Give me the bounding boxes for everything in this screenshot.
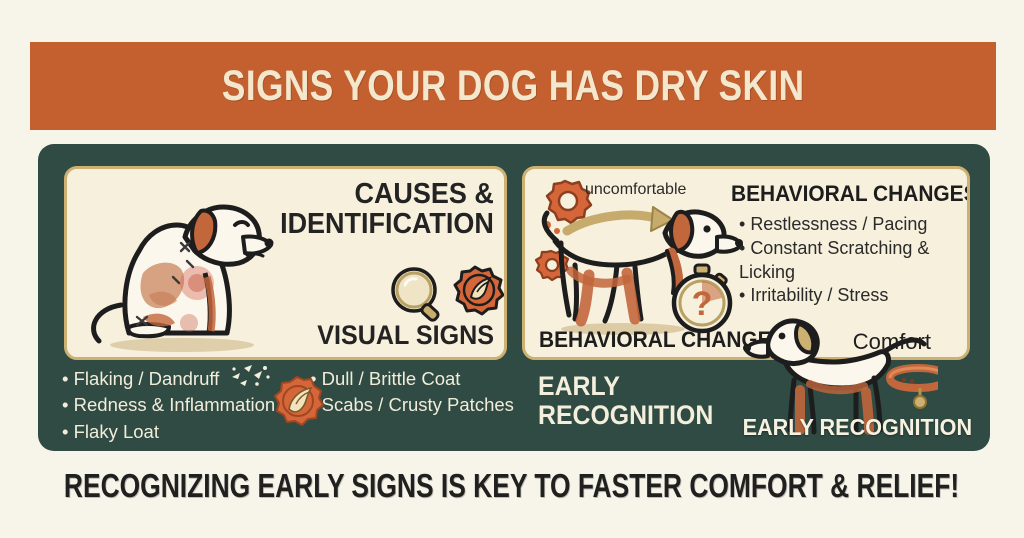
early-recognition-overlay-label: EARLY RECOGNITION xyxy=(743,414,972,441)
list-item: • Scabs / Crusty Patches xyxy=(310,392,514,418)
footer-banner: RECOGNIZING EARLY SIGNS IS KEY TO FASTER… xyxy=(0,460,1024,512)
right-card-heading: BEHAVIORAL CHANGES xyxy=(731,181,970,207)
list-item: • Flaky Loat xyxy=(62,419,275,445)
content-panel: CAUSES & IDENTIFICATION VISUAL S xyxy=(38,144,990,451)
page-title: SIGNS YOUR DOG HAS DRY SKIN xyxy=(222,62,805,111)
causes-identification-card: CAUSES & IDENTIFICATION VISUAL S xyxy=(64,166,507,360)
list-item: • Constant Scratching & Licking xyxy=(739,237,969,285)
footer-tagline: RECOGNIZING EARLY SIGNS IS KEY TO FASTER… xyxy=(64,467,959,505)
walking-dog-illustration: ? xyxy=(531,179,743,347)
list-item: • Dull / Brittle Coat xyxy=(310,366,514,392)
uncomfortable-annotation: uncomfortable xyxy=(585,181,686,199)
behavioral-bullet-list: • Restlessness / Pacing • Constant Scrat… xyxy=(739,213,969,308)
list-item: • Redness & Inflammation xyxy=(62,392,275,418)
flakes-icon xyxy=(228,363,272,389)
early-recognition-line2: RECOGNITION xyxy=(538,401,713,430)
magnifier-icon xyxy=(393,269,440,322)
gear-flame-icon xyxy=(270,376,324,430)
visual-signs-label: VISUAL SIGNS xyxy=(317,320,494,351)
left-card-heading-line1: CAUSES & xyxy=(280,179,494,209)
left-card-icon-group xyxy=(383,263,505,325)
early-recognition-line1: EARLY xyxy=(538,372,713,401)
title-banner: SIGNS YOUR DOG HAS DRY SKIN xyxy=(30,42,996,130)
early-recognition-label: EARLY RECOGNITION xyxy=(538,372,713,429)
list-item: • Irritability / Stress xyxy=(739,284,969,308)
dog-collar-icon xyxy=(890,368,938,408)
list-item: • Restlessness / Pacing xyxy=(739,213,969,237)
left-card-heading: CAUSES & IDENTIFICATION xyxy=(280,179,494,239)
svg-text:?: ? xyxy=(692,285,713,323)
sitting-dog-illustration xyxy=(77,177,287,355)
left-card-heading-line2: IDENTIFICATION xyxy=(280,209,494,239)
symptoms-right-column: • Dull / Brittle Coat • Scabs / Crusty P… xyxy=(310,366,514,419)
infographic-root: SIGNS YOUR DOG HAS DRY SKIN xyxy=(0,0,1024,538)
gear-flame-icon xyxy=(455,267,503,314)
